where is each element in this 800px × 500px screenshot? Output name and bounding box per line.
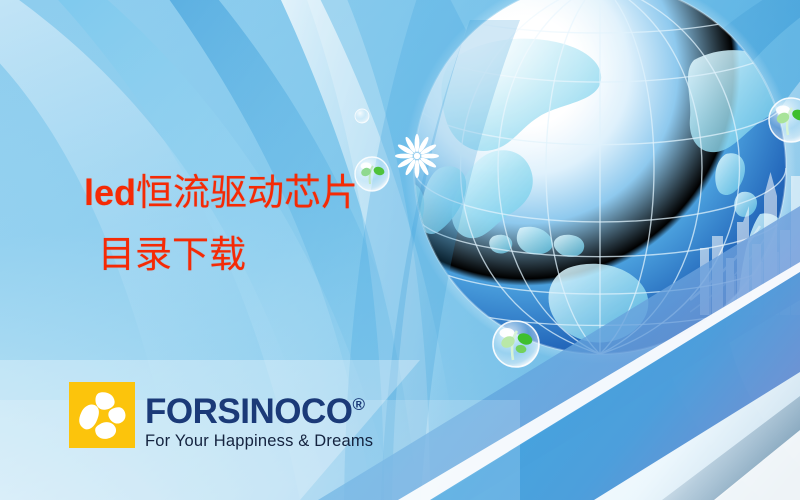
bubble-tiny — [355, 109, 369, 123]
brand-wordmark: FORSINOCO® — [145, 387, 373, 430]
registered-trademark-icon: ® — [352, 395, 365, 414]
four-petal-flower-icon — [69, 382, 135, 448]
bubble-with-sprout-small — [355, 157, 389, 191]
bubble-with-sprout-large — [493, 321, 539, 367]
brand-tagline: For Your Happiness & Dreams — [145, 431, 373, 451]
brand-text-block: FORSINOCO® For Your Happiness & Dreams — [145, 382, 373, 451]
slide-canvas: led恒流驱动芯片 目录下载 FORSINOCO® Fo — [0, 0, 800, 500]
brand-wordmark-text: FORSINOCO — [145, 392, 352, 431]
brand-logo-lockup: FORSINOCO® For Your Happiness & Dreams — [69, 382, 373, 451]
